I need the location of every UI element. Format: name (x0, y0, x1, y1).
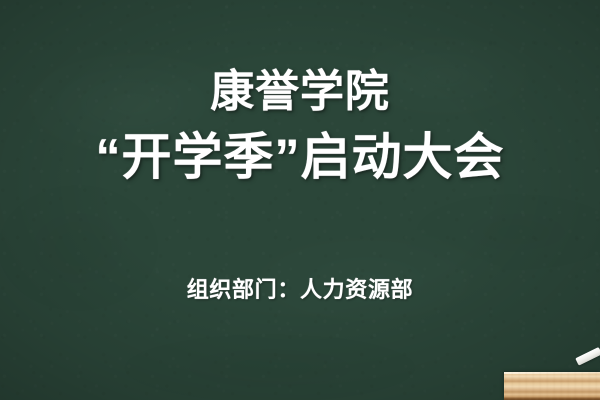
chalk-ledge-woodgrain (504, 372, 600, 400)
slide-title-line-2: “开学季”启动大会 (0, 126, 600, 189)
chalk-ledge-icon (504, 372, 600, 400)
slide-subtitle-organizer: 组织部门：人力资源部 (0, 272, 600, 304)
slide-content: 康誉学院 “开学季”启动大会 组织部门：人力资源部 (0, 0, 600, 400)
slide-title-line-1: 康誉学院 (0, 64, 600, 119)
presentation-slide: 康誉学院 “开学季”启动大会 组织部门：人力资源部 (0, 0, 600, 400)
